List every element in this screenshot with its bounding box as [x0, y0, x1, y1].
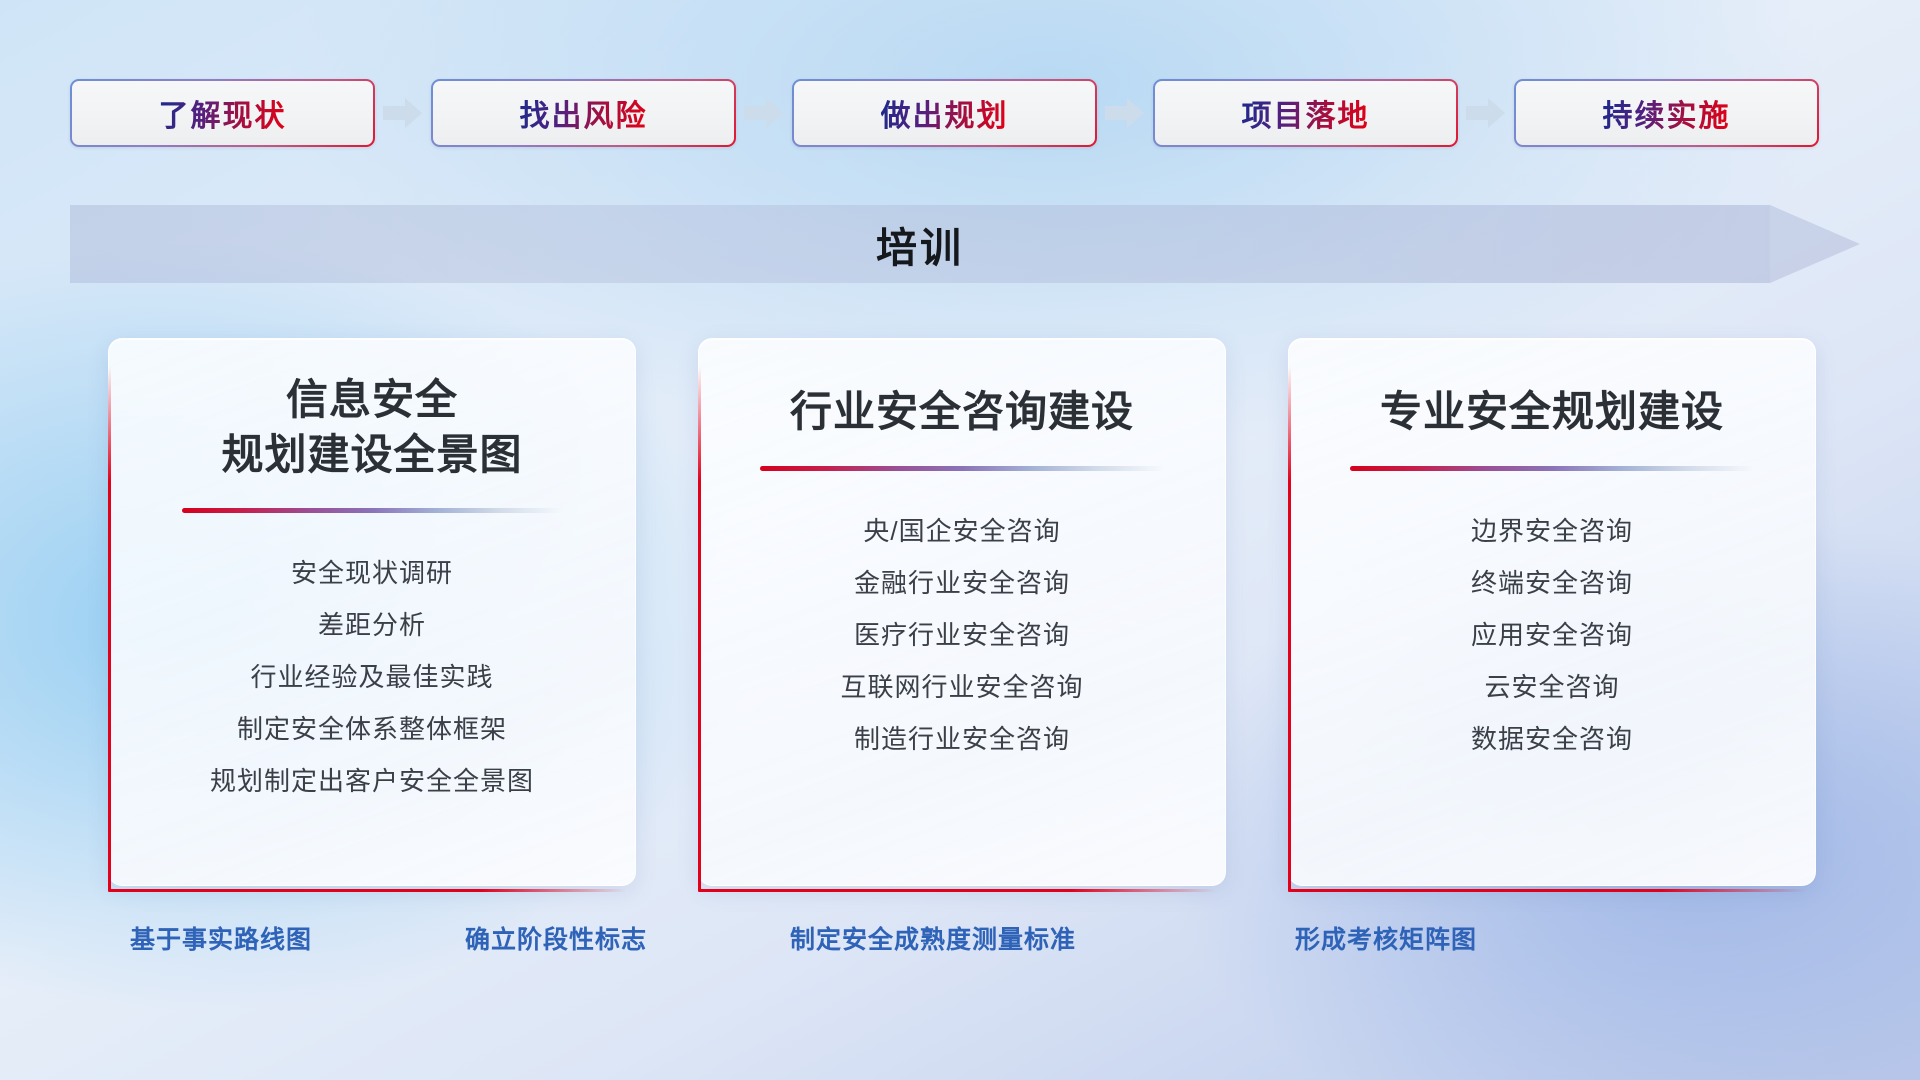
list-item: 央/国企安全咨询 — [699, 505, 1225, 557]
bottom-label-4: 形成考核矩阵图 — [1295, 920, 1477, 956]
list-item: 终端安全咨询 — [1289, 557, 1815, 609]
list-item: 互联网行业安全咨询 — [699, 661, 1225, 713]
list-item: 规划制定出客户安全全景图 — [109, 755, 635, 807]
list-item: 制造行业安全咨询 — [699, 713, 1225, 765]
card-3-title-line-1: 专业安全规划建设 — [1307, 385, 1797, 440]
card-3[interactable]: 专业安全规划建设 边界安全咨询 终端安全咨询 应用安全咨询 云安全咨询 数据安全… — [1288, 338, 1816, 886]
chevron-right-icon-1 — [375, 93, 431, 133]
list-item: 云安全咨询 — [1289, 661, 1815, 713]
chevron-right-icon-4 — [1458, 93, 1514, 133]
card-1-list: 安全现状调研 差距分析 行业经验及最佳实践 制定安全体系整体框架 规划制定出客户… — [109, 547, 635, 807]
card-3-accent-left — [1288, 366, 1291, 892]
card-2-title: 行业安全咨询建设 — [699, 385, 1225, 440]
flow-step-3-inner: 做出规划 — [794, 81, 1095, 145]
flow-step-2-inner: 找出风险 — [433, 81, 734, 145]
list-item: 差距分析 — [109, 599, 635, 651]
training-banner-arrow-tip — [1770, 205, 1860, 283]
list-item: 行业经验及最佳实践 — [109, 651, 635, 703]
list-item: 数据安全咨询 — [1289, 713, 1815, 765]
card-1[interactable]: 信息安全 规划建设全景图 安全现状调研 差距分析 行业经验及最佳实践 制定安全体… — [108, 338, 636, 886]
card-3-divider — [1350, 466, 1754, 471]
card-1-surface: 信息安全 规划建设全景图 安全现状调研 差距分析 行业经验及最佳实践 制定安全体… — [108, 338, 636, 886]
list-item: 制定安全体系整体框架 — [109, 703, 635, 755]
card-2-surface: 行业安全咨询建设 央/国企安全咨询 金融行业安全咨询 医疗行业安全咨询 互联网行… — [698, 338, 1226, 886]
card-2-accent-left — [698, 366, 701, 892]
card-1-title-line-1: 信息安全 — [127, 373, 617, 428]
flow-step-4-inner: 项目落地 — [1155, 81, 1456, 145]
chevron-right-icon-3 — [1097, 93, 1153, 133]
card-1-accent-left — [108, 366, 111, 892]
flow-step-4-label: 项目落地 — [1242, 91, 1370, 135]
card-3-list: 边界安全咨询 终端安全咨询 应用安全咨询 云安全咨询 数据安全咨询 — [1289, 505, 1815, 765]
card-1-divider — [182, 508, 562, 513]
card-3-surface: 专业安全规划建设 边界安全咨询 终端安全咨询 应用安全咨询 云安全咨询 数据安全… — [1288, 338, 1816, 886]
card-1-title-line-2: 规划建设全景图 — [127, 428, 617, 483]
flow-step-1[interactable]: 了解现状 — [70, 79, 375, 147]
card-2-accent-bottom — [698, 889, 1216, 892]
list-item: 金融行业安全咨询 — [699, 557, 1225, 609]
flow-step-2-label: 找出风险 — [520, 91, 648, 135]
list-item: 安全现状调研 — [109, 547, 635, 599]
flow-step-4[interactable]: 项目落地 — [1153, 79, 1458, 147]
card-1-accent-bottom — [108, 889, 626, 892]
flow-step-1-label: 了解现状 — [159, 91, 287, 135]
flow-step-1-inner: 了解现状 — [72, 81, 373, 145]
card-2[interactable]: 行业安全咨询建设 央/国企安全咨询 金融行业安全咨询 医疗行业安全咨询 互联网行… — [698, 338, 1226, 886]
list-item: 应用安全咨询 — [1289, 609, 1815, 661]
training-banner-title: 培训 — [70, 205, 1770, 283]
flow-step-5-inner: 持续实施 — [1516, 81, 1817, 145]
flow-step-3[interactable]: 做出规划 — [792, 79, 1097, 147]
chevron-right-icon-2 — [736, 93, 792, 133]
card-3-accent-bottom — [1288, 889, 1806, 892]
card-2-divider — [760, 466, 1164, 471]
flow-step-5[interactable]: 持续实施 — [1514, 79, 1819, 147]
cards-row: 信息安全 规划建设全景图 安全现状调研 差距分析 行业经验及最佳实践 制定安全体… — [108, 338, 1818, 886]
bottom-label-1: 基于事实路线图 — [130, 920, 312, 956]
bottom-label-2: 确立阶段性标志 — [465, 920, 647, 956]
list-item: 边界安全咨询 — [1289, 505, 1815, 557]
card-2-list: 央/国企安全咨询 金融行业安全咨询 医疗行业安全咨询 互联网行业安全咨询 制造行… — [699, 505, 1225, 765]
card-2-title-line-1: 行业安全咨询建设 — [717, 385, 1207, 440]
list-item: 医疗行业安全咨询 — [699, 609, 1225, 661]
card-1-title: 信息安全 规划建设全景图 — [109, 373, 635, 482]
training-banner: 培训 — [70, 205, 1860, 283]
flow-step-2[interactable]: 找出风险 — [431, 79, 736, 147]
process-flow-row: 了解现状 找出风险 做出规划 — [70, 78, 1860, 148]
flow-step-5-label: 持续实施 — [1603, 91, 1731, 135]
flow-step-3-label: 做出规划 — [881, 91, 1009, 135]
card-3-title: 专业安全规划建设 — [1289, 385, 1815, 440]
bottom-label-3: 制定安全成熟度测量标准 — [790, 920, 1076, 956]
slide-canvas: 了解现状 找出风险 做出规划 — [0, 0, 1920, 1080]
